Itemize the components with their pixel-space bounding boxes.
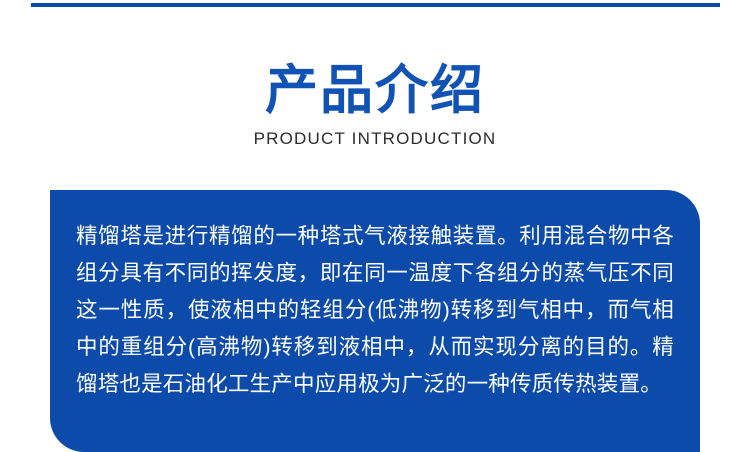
section-header: 产品介绍 PRODUCT INTRODUCTION [0,0,750,149]
description-panel: 精馏塔是进行精馏的一种塔式气液接触装置。利用混合物中各组分具有不同的挥发度，即在… [50,190,700,452]
page-subtitle: PRODUCT INTRODUCTION [0,119,750,149]
description-text: 精馏塔是进行精馏的一种塔式气液接触装置。利用混合物中各组分具有不同的挥发度，即在… [76,218,674,403]
page-title: 产品介绍 [0,0,750,119]
